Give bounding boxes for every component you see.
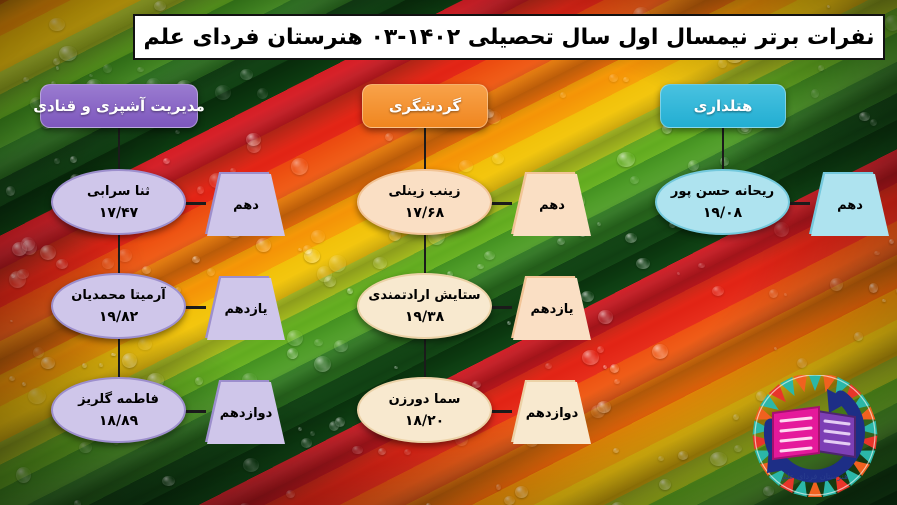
grade-label: دهم: [837, 198, 863, 213]
page-title-text: نفرات برتر نیمسال اول سال تحصیلی ۱۴۰۲-۰۳…: [144, 25, 875, 50]
student-score: ۱۸/۸۹: [99, 413, 138, 429]
department-header-hotel-label: هتلداری: [694, 97, 753, 115]
student-score: ۱۷/۴۷: [99, 205, 138, 221]
page-title: نفرات برتر نیمسال اول سال تحصیلی ۱۴۰۲-۰۳…: [133, 14, 885, 60]
student-name: ریحانه حسن پور: [671, 184, 774, 199]
student-card-cooking-3[interactable]: فاطمه گلریز ۱۸/۸۹: [51, 377, 186, 443]
grade-label: دهم: [539, 198, 565, 213]
grade-label: یازدهم: [530, 302, 573, 317]
student-name: ستایش ارادتمندی: [368, 288, 480, 303]
student-name: آرمیتا محمدیان: [71, 288, 166, 303]
grade-label: دوازدهم: [526, 406, 579, 421]
department-header-tourism[interactable]: گردشگری: [362, 84, 488, 128]
student-score: ۱۷/۶۸: [405, 205, 444, 221]
grade-label: دهم: [233, 198, 259, 213]
student-card-tourism-3[interactable]: سما دورزن ۱۸/۲۰: [357, 377, 492, 443]
student-card-tourism-2[interactable]: ستایش ارادتمندی ۱۹/۳۸: [357, 273, 492, 339]
student-card-hotel-1[interactable]: ریحانه حسن پور ۱۹/۰۸: [655, 169, 790, 235]
student-card-tourism-1[interactable]: زینب زینلی ۱۷/۶۸: [357, 169, 492, 235]
department-header-hotel[interactable]: هتلداری: [660, 84, 786, 128]
student-card-cooking-1[interactable]: ثنا سرابی ۱۷/۴۷: [51, 169, 186, 235]
school-logo: هنرستان فردای علم: [745, 375, 885, 499]
department-header-cooking-label: مدیریت آشپزی و قنادی: [33, 97, 205, 115]
student-score: ۱۹/۰۸: [703, 205, 742, 221]
student-name: ثنا سرابی: [87, 184, 150, 199]
student-card-cooking-2[interactable]: آرمیتا محمدیان ۱۹/۸۲: [51, 273, 186, 339]
student-score: ۱۸/۲۰: [405, 413, 444, 429]
grade-label: یازدهم: [224, 302, 267, 317]
student-name: سما دورزن: [389, 392, 461, 407]
student-score: ۱۹/۸۲: [99, 309, 138, 325]
grade-label: دوازدهم: [220, 406, 273, 421]
student-name: زینب زینلی: [388, 184, 460, 199]
department-header-cooking[interactable]: مدیریت آشپزی و قنادی: [40, 84, 198, 128]
student-name: فاطمه گلریز: [78, 392, 159, 407]
school-logo-wordmark: هنرستان فردای علم: [782, 472, 849, 481]
infographic-poster: نفرات برتر نیمسال اول سال تحصیلی ۱۴۰۲-۰۳…: [0, 0, 897, 505]
student-score: ۱۹/۳۸: [405, 309, 444, 325]
school-logo-icon: هنرستان فردای علم: [745, 375, 885, 499]
department-header-tourism-label: گردشگری: [389, 97, 461, 115]
